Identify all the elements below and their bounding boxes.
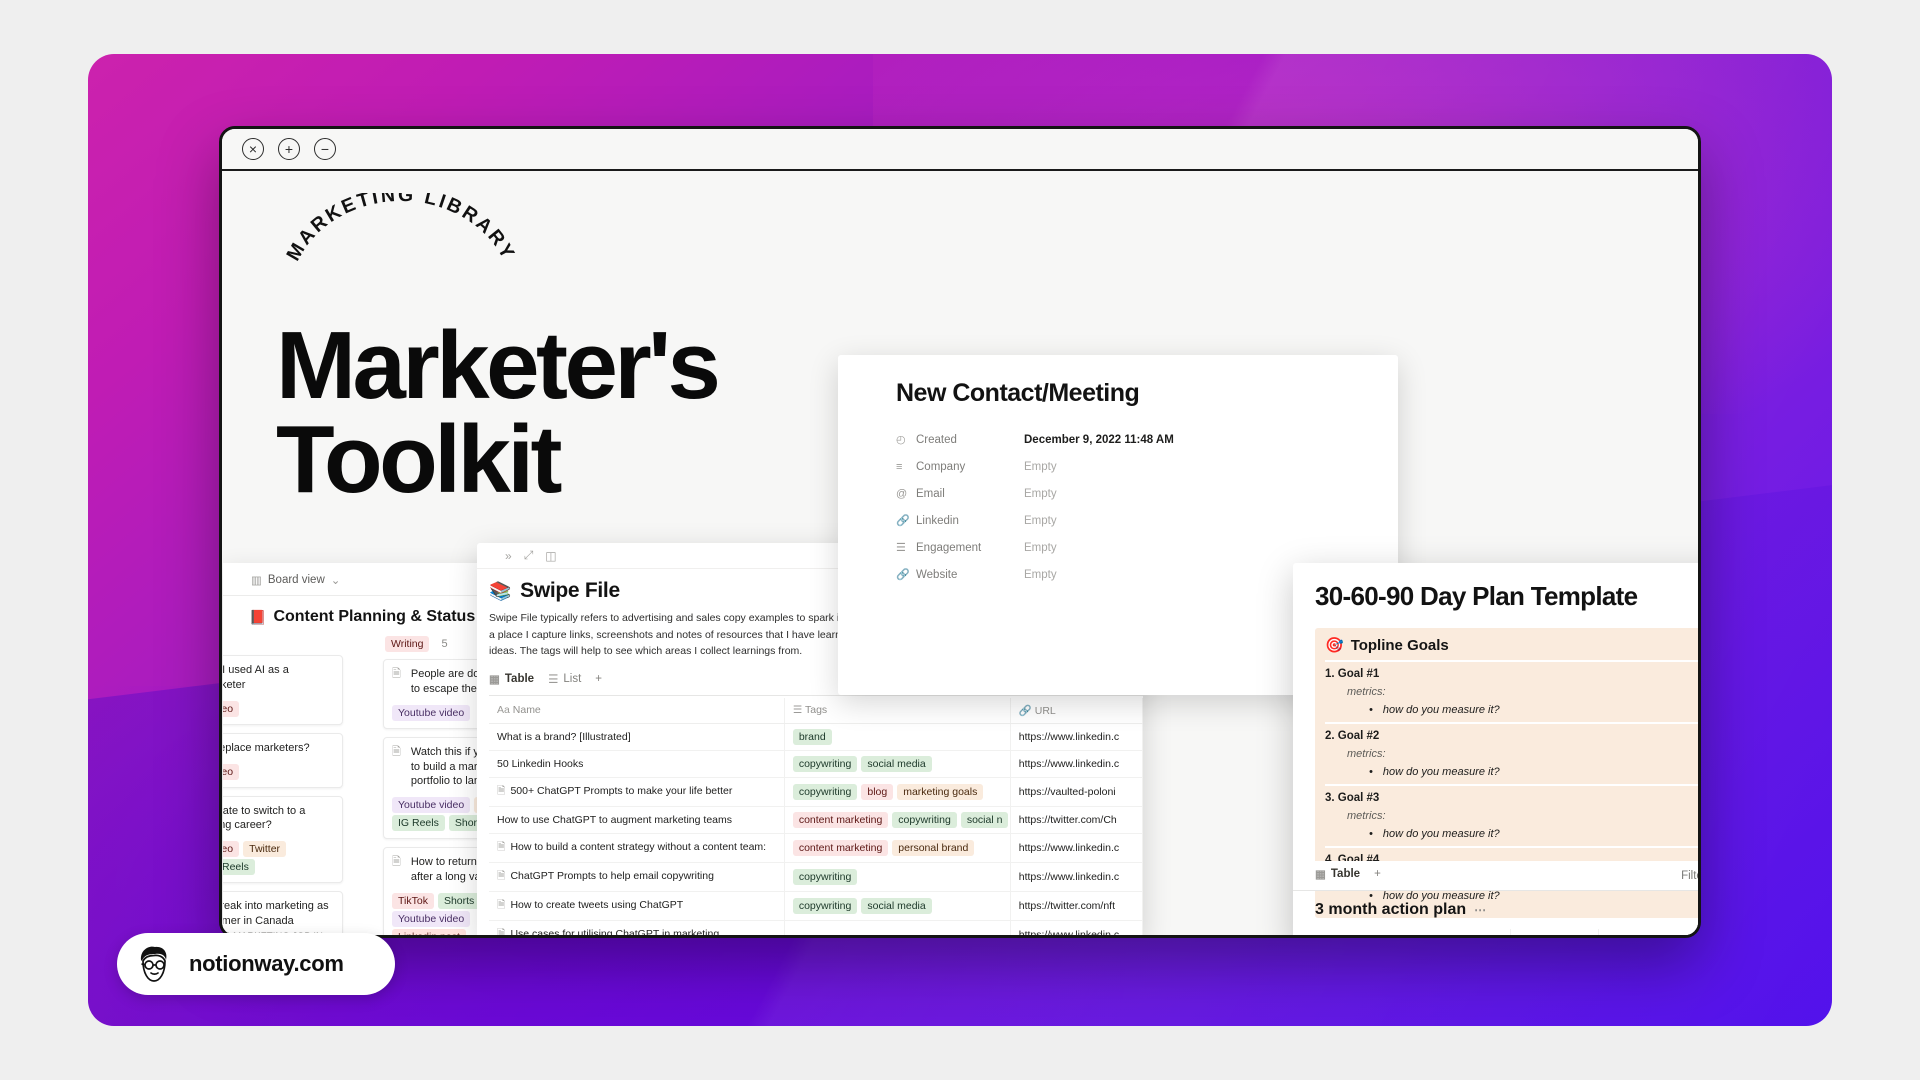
cell-name-text: 500+ ChatGPT Prompts to make your life b… — [510, 785, 732, 797]
tag: copywriting — [793, 898, 858, 914]
document-icon: 🗎 — [497, 870, 505, 882]
board-card-title: ays I used AI as a marketer — [223, 663, 334, 693]
column-header-category[interactable]: ☰ Category — [1599, 929, 1698, 938]
board-card-title-text: ays I used AI as a marketer — [223, 663, 334, 693]
contact-title: New Contact/Meeting — [896, 379, 1398, 408]
table-row[interactable]: 🗎How to create tweets using ChatGPTcopyw… — [489, 891, 1143, 920]
tag: video — [223, 841, 239, 857]
cell-tags[interactable]: content marketingcopywritingsocial n — [784, 806, 1010, 833]
tag: Youtube video — [392, 705, 470, 721]
board-card-title: too late to switch to a keting career? — [223, 804, 334, 834]
board-title-text: Content Planning & Status — [273, 608, 475, 626]
document-icon: 🗎 — [497, 841, 505, 853]
tag: TikTok — [392, 893, 434, 909]
board-card-title-text: AI replace marketers? — [223, 741, 310, 756]
filter-button[interactable]: Filter — [1681, 870, 1698, 882]
cell-tags[interactable]: content marketingpersonal brand — [784, 833, 1010, 862]
contact-property-value[interactable]: Empty — [1024, 488, 1057, 500]
column-header-url[interactable]: 🔗 URL — [1010, 698, 1142, 724]
board-column-header: 8 — [223, 636, 343, 648]
column-header-name[interactable]: Aa Name — [489, 698, 784, 724]
cell-tags[interactable] — [784, 920, 1010, 938]
expand-icon[interactable]: ⤢ — [524, 548, 534, 563]
column-header-timeline[interactable]: ◉ Timeline — [1511, 929, 1599, 938]
goal-block: 2. Goal #2metrics:•how do you measure it… — [1325, 722, 1698, 784]
goal-metric-bullet-text: how do you measure it? — [1383, 704, 1500, 716]
tag: social media — [861, 756, 931, 772]
list-icon: ☰ — [548, 672, 558, 686]
cell-name-text: ChatGPT Prompts to help email copywritin… — [510, 870, 713, 882]
bullet-dot-icon: • — [1369, 828, 1373, 840]
contact-property-row: 🔗LinkedinEmpty — [896, 507, 1398, 534]
select-type-icon: ◉ — [1519, 935, 1528, 938]
day-plan-title: 30-60-90 Day Plan Template — [1315, 581, 1698, 612]
swipe-file-table: Aa Name ☰ Tags 🔗 URL What is a brand? [I… — [489, 698, 1143, 938]
table-row[interactable]: 🗎500+ ChatGPT Prompts to make your life … — [489, 777, 1143, 806]
link-icon: 🔗 — [896, 514, 916, 527]
board-column-count: 5 — [441, 638, 447, 650]
chevron-down-icon: ⌄ — [331, 573, 341, 587]
cell-url[interactable]: https://twitter.com/nft — [1010, 891, 1142, 920]
status-badge: Writing — [385, 636, 429, 652]
swipe-file-title-text: Swipe File — [520, 579, 620, 603]
tag: Shorts — [438, 893, 480, 909]
cell-name-text: How to use ChatGPT to augment marketing … — [497, 814, 732, 826]
board-column: 8 ays I used AI as a marketervideoAI rep… — [223, 636, 343, 938]
board-card[interactable]: to break into marketing as wcomer in Can… — [223, 891, 343, 938]
tag: Youtube video — [392, 797, 470, 813]
goal-metric-bullet: •how do you measure it? — [1369, 766, 1698, 778]
goal-block: 3. Goal #3metrics:•how do you measure it… — [1325, 784, 1698, 846]
column-header-name[interactable]: Aa Name — [1315, 929, 1511, 938]
contact-property-value[interactable]: Empty — [1024, 542, 1057, 554]
document-icon: 🗎 — [392, 745, 401, 760]
table-header-row: Aa Name ☰ Tags 🔗 URL — [489, 698, 1143, 724]
books-icon: 📕 — [249, 609, 266, 626]
action-plan-table-wrap: Aa Name ◉ Timeline ☰ Category ☰ — [1315, 929, 1698, 938]
board-card[interactable]: AI replace marketers?video — [223, 733, 343, 788]
tab-table-label: Table — [505, 673, 534, 685]
cell-name-text: What is a brand? [Illustrated] — [497, 731, 631, 743]
multiselect-type-icon: ☰ — [793, 704, 802, 716]
table-icon: ▦ — [1315, 867, 1326, 881]
contact-property-label: Engagement — [916, 542, 1024, 554]
board-card-tags: video — [223, 762, 334, 780]
watermark-label: notionway.com — [189, 951, 344, 977]
column-header-tags[interactable]: ☰ Tags — [784, 698, 1010, 724]
cell-url[interactable]: https://twitter.com/Ch — [1010, 806, 1142, 833]
board-card-title-text: too late to switch to a keting career? — [223, 804, 334, 834]
contact-property-label: Email — [916, 488, 1024, 500]
window-content: MARKETING LIBRARY Marketer's Toolkit ▥ B… — [222, 171, 1698, 938]
goal-metrics-label: metrics: — [1347, 810, 1698, 822]
goal-name: 3. Goal #3 — [1325, 792, 1698, 804]
contact-property-row: ☰EngagementEmpty — [896, 534, 1398, 561]
tag: Twitter — [243, 841, 286, 857]
board-card-tags: videoTwitterIG Reels — [223, 839, 334, 875]
tag: IG Reels — [392, 815, 445, 831]
cell-name-text: How to build a content strategy without … — [510, 841, 766, 853]
books-emoji-icon: 📚 — [489, 581, 511, 602]
title-type-icon: Aa — [497, 704, 510, 716]
contact-property-value[interactable]: Empty — [1024, 569, 1057, 581]
cell-name[interactable]: 🗎How to build a content strategy without… — [489, 833, 784, 862]
swipe-file-table-body: What is a brand? [Illustrated]brandhttps… — [489, 723, 1143, 938]
window-titlebar: × + − — [222, 129, 1698, 171]
tag: Linkedin post — [392, 929, 466, 938]
goal-metric-bullet-text: how do you measure it? — [1383, 828, 1500, 840]
cell-tags[interactable]: copywriting — [784, 862, 1010, 891]
sidebar-icon[interactable]: ◫ — [545, 549, 556, 563]
action-plan-table: Aa Name ◉ Timeline ☰ Category ☰ — [1315, 929, 1698, 938]
cell-tags[interactable]: copywritingsocial media — [784, 750, 1010, 777]
goal-metric-bullet-text: how do you measure it? — [1383, 766, 1500, 778]
board-view-label: Board view — [268, 574, 325, 586]
cell-url[interactable]: https://www.linkedin.c — [1010, 723, 1142, 750]
list-icon: ☰ — [896, 541, 916, 554]
tag: video — [223, 701, 239, 717]
board-card-tags: video — [223, 699, 334, 717]
text-icon: ≡ — [896, 461, 916, 473]
tab-list-label: List — [563, 673, 581, 685]
column-header-name-label: Name — [513, 704, 541, 716]
marketing-library-arc-logo: MARKETING LIBRARY — [276, 193, 526, 301]
cell-url[interactable]: https://www.linkedin.c — [1010, 833, 1142, 862]
contact-property-row: @EmailEmpty — [896, 480, 1398, 507]
board-card-title: AI replace marketers? — [223, 741, 334, 756]
add-view-button[interactable]: + — [1374, 868, 1381, 883]
board-column-cards: ays I used AI as a marketervideoAI repla… — [223, 655, 343, 938]
callout-heading-text: Topline Goals — [1351, 637, 1449, 654]
contact-property-label: Created — [916, 434, 1024, 446]
day-plan-panel: 30-60-90 Day Plan Template 🎯 Topline Goa… — [1293, 563, 1698, 938]
cell-url[interactable]: https://www.linkedin.c — [1010, 862, 1142, 891]
db-more-options-icon[interactable]: ⋯ — [1474, 903, 1486, 917]
contact-property-value[interactable]: December 9, 2022 11:48 AM — [1024, 434, 1174, 446]
goal-block: 1. Goal #1metrics:•how do you measure it… — [1325, 660, 1698, 722]
contact-property-row: ≡CompanyEmpty — [896, 453, 1398, 480]
column-header-category-label: Category — [1619, 935, 1662, 938]
cell-name-text: 50 Linkedin Hooks — [497, 758, 583, 770]
cell-name-text: How to create tweets using ChatGPT — [510, 899, 683, 911]
tag: Youtube video — [392, 911, 470, 927]
document-icon: 🗎 — [497, 928, 505, 938]
tag: blog — [861, 784, 893, 800]
table-header-row: Aa Name ◉ Timeline ☰ Category ☰ — [1315, 929, 1698, 938]
cell-url[interactable]: https://www.linkedin.c — [1010, 920, 1142, 938]
cell-tags[interactable]: copywritingsocial media — [784, 891, 1010, 920]
column-header-timeline-label: Timeline — [1531, 935, 1570, 938]
board-icon: ▥ — [251, 573, 262, 587]
at-icon: @ — [896, 488, 916, 500]
svg-text:MARKETING LIBRARY: MARKETING LIBRARY — [282, 193, 519, 265]
cell-tags[interactable]: copywritingblogmarketing goals — [784, 777, 1010, 806]
board-card[interactable]: too late to switch to a keting career?vi… — [223, 796, 343, 884]
goal-name: 2. Goal #2 — [1325, 730, 1698, 742]
goal-name: 1. Goal #1 — [1325, 668, 1698, 680]
contact-property-label: Company — [916, 461, 1024, 473]
tag: brand — [793, 729, 832, 745]
cell-name[interactable]: What is a brand? [Illustrated] — [489, 723, 784, 750]
contact-property-value[interactable]: Empty — [1024, 515, 1057, 527]
table-row[interactable]: 50 Linkedin Hookscopywritingsocial media… — [489, 750, 1143, 777]
cell-url[interactable]: https://www.linkedin.c — [1010, 750, 1142, 777]
person-avatar-icon — [133, 943, 175, 985]
cell-name[interactable]: 🗎How to create tweets using ChatGPT — [489, 891, 784, 920]
add-view-button[interactable]: + — [595, 673, 602, 688]
action-plan-db-title: 3 month action plan ⋯ — [1315, 901, 1486, 919]
cell-url[interactable]: https://vaulted-poloni — [1010, 777, 1142, 806]
column-header-tags-label: Tags — [805, 704, 827, 716]
board-card-title-text: to break into marketing as wcomer in Can… — [223, 899, 334, 929]
document-icon: 🗎 — [392, 667, 401, 682]
table-row[interactable]: 🗎How to build a content strategy without… — [489, 833, 1143, 862]
callout-heading: 🎯 Topline Goals — [1325, 636, 1698, 660]
target-emoji-icon: 🎯 — [1325, 636, 1344, 654]
close-icon[interactable]: × — [242, 138, 264, 160]
title-type-icon: Aa — [1323, 935, 1336, 938]
table-icon: ▦ — [489, 672, 500, 686]
document-icon: 🗎 — [497, 785, 505, 797]
browser-window: × + − MARKETING LIBRARY Marketer's Toolk… — [219, 126, 1701, 938]
contact-property-label: Linkedin — [916, 515, 1024, 527]
minimize-icon[interactable]: − — [314, 138, 336, 160]
goal-metrics-label: metrics: — [1347, 686, 1698, 698]
contact-property-row: ◴CreatedDecember 9, 2022 11:48 AM — [896, 426, 1398, 453]
tab-list[interactable]: ☰ List — [548, 672, 581, 689]
tab-table-label: Table — [1331, 868, 1360, 880]
cell-name[interactable]: 🗎Use cases for utilising ChatGPT in mark… — [489, 920, 784, 938]
tag: social media — [861, 898, 931, 914]
tab-table[interactable]: ▦ Table — [1315, 867, 1360, 884]
document-icon: 🗎 — [497, 899, 505, 911]
tag: content marketing — [793, 840, 888, 856]
contact-property-label: Website — [916, 569, 1024, 581]
goal-metrics-label: metrics: — [1347, 748, 1698, 760]
cell-name[interactable]: 50 Linkedin Hooks — [489, 750, 784, 777]
cell-tags[interactable]: brand — [784, 723, 1010, 750]
goal-metric-bullet: •how do you measure it? — [1369, 828, 1698, 840]
link-type-icon: 🔗 — [1019, 704, 1032, 717]
bullet-dot-icon: • — [1369, 704, 1373, 716]
tag: marketing goals — [897, 784, 983, 800]
clock-icon: ◴ — [896, 433, 916, 446]
tag: copywriting — [793, 756, 858, 772]
tag: IG Reels — [223, 859, 255, 875]
board-card-title: to break into marketing as wcomer in Can… — [223, 899, 334, 929]
tag: personal brand — [892, 840, 974, 856]
chevrons-right-icon[interactable]: » — [505, 549, 512, 563]
tag: social n — [961, 812, 1009, 828]
tag: content marketing — [793, 812, 888, 828]
cell-name[interactable]: 🗎ChatGPT Prompts to help email copywriti… — [489, 862, 784, 891]
tag: video — [223, 764, 239, 780]
contact-property-value[interactable]: Empty — [1024, 461, 1057, 473]
cell-name[interactable]: 🗎500+ ChatGPT Prompts to make your life … — [489, 777, 784, 806]
table-row[interactable]: What is a brand? [Illustrated]brandhttps… — [489, 723, 1143, 750]
table-row[interactable]: How to use ChatGPT to augment marketing … — [489, 806, 1143, 833]
table-row[interactable]: 🗎ChatGPT Prompts to help email copywriti… — [489, 862, 1143, 891]
column-header-url-label: URL — [1035, 705, 1056, 717]
board-card[interactable]: ays I used AI as a marketervideo — [223, 655, 343, 725]
tab-table[interactable]: ▦ Table — [489, 672, 534, 689]
bullet-dot-icon: • — [1369, 766, 1373, 778]
goal-metric-bullet: •how do you measure it? — [1369, 704, 1698, 716]
multiselect-type-icon: ☰ — [1607, 935, 1616, 938]
tag: copywriting — [892, 812, 957, 828]
table-row[interactable]: 🗎Use cases for utilising ChatGPT in mark… — [489, 920, 1143, 938]
column-header-name-label: Name — [1339, 935, 1367, 938]
add-icon[interactable]: + — [278, 138, 300, 160]
day-plan-toolbar: ▦ Table + Filter Sort ⌕ ⤡ ⋯ New ⌄ — [1293, 861, 1698, 891]
tag: copywriting — [793, 784, 858, 800]
action-plan-db-title-text: 3 month action plan — [1315, 901, 1466, 919]
document-icon: 🗎 — [392, 855, 401, 870]
cell-name[interactable]: How to use ChatGPT to augment marketing … — [489, 806, 784, 833]
watermark-badge: notionway.com — [117, 933, 395, 995]
link-icon: 🔗 — [896, 568, 916, 581]
tag: copywriting — [793, 869, 858, 885]
cell-name-text: Use cases for utilising ChatGPT in marke… — [510, 928, 719, 938]
